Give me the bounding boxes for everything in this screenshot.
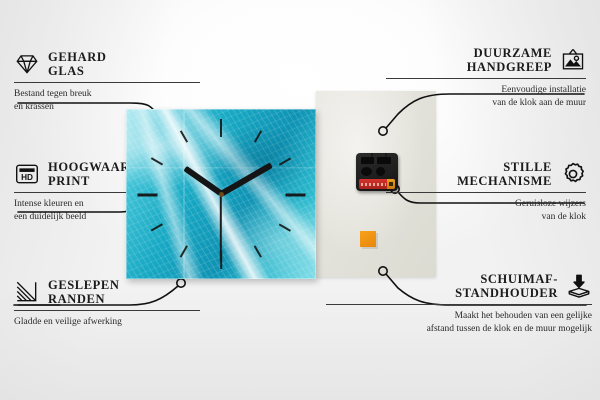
hand-pin: [219, 192, 224, 197]
foam-spacer: [360, 231, 376, 247]
feature-stille-mechanisme: STILLE MECHANISME Geruisloze wijzers van…: [386, 160, 586, 223]
movement-detail: [361, 167, 372, 176]
feature-title: SCHUIMAF- STANDHOUDER: [455, 272, 558, 300]
feature-schuimaf-standhouder: SCHUIMAF- STANDHOUDER Maakt het behouden…: [326, 272, 592, 335]
movement-detail: [361, 157, 374, 164]
divider: [386, 78, 586, 79]
gear-icon: [560, 161, 586, 187]
feature-gehard-glas: GEHARD GLAS Bestand tegen breuk en krass…: [14, 50, 200, 113]
feature-head: DUURZAME HANDGREEP: [386, 46, 586, 74]
feature-title: GEHARD GLAS: [48, 50, 106, 78]
movement-detail: [377, 157, 391, 164]
press-down-pad-icon: [566, 273, 592, 299]
quartz-movement: [356, 153, 398, 191]
divider: [326, 304, 592, 305]
hanging-picture-icon: [560, 47, 586, 73]
battery: [359, 179, 395, 189]
product-infographic: GEHARD GLAS Bestand tegen breuk en krass…: [0, 0, 600, 400]
ultra-hd-icon: HD: [14, 161, 40, 187]
svg-text:HD: HD: [21, 173, 33, 182]
feature-head: GEHARD GLAS: [14, 50, 200, 78]
diamond-icon: [14, 51, 40, 77]
feature-head: SCHUIMAF- STANDHOUDER: [326, 272, 592, 300]
movement-detail: [376, 167, 385, 176]
feature-title: DUURZAME HANDGREEP: [467, 46, 552, 74]
bevelled-edges-icon: [14, 279, 40, 305]
divider: [14, 82, 200, 83]
feature-description: Maakt het behouden van een gelijke afsta…: [326, 310, 592, 335]
glass-clock-face: [126, 109, 316, 279]
feature-duurzame-handgreep: DUURZAME HANDGREEP Eenvoudige installati…: [386, 46, 586, 109]
feature-head: STILLE MECHANISME: [386, 160, 586, 188]
feature-description: Geruisloze wijzers van de klok: [386, 198, 586, 223]
feature-description: Eenvoudige installatie van de klok aan d…: [386, 84, 586, 109]
divider: [14, 310, 200, 311]
feature-head: GESLEPEN RANDEN: [14, 278, 200, 306]
divider: [386, 192, 586, 193]
feature-description: Gladde en veilige afwerking: [14, 316, 200, 329]
feature-title: GESLEPEN RANDEN: [48, 278, 120, 306]
feature-geslepen-randen: GESLEPEN RANDEN Gladde en veilige afwerk…: [14, 278, 200, 329]
battery-terminal: [387, 179, 395, 189]
feature-title: STILLE MECHANISME: [457, 160, 552, 188]
